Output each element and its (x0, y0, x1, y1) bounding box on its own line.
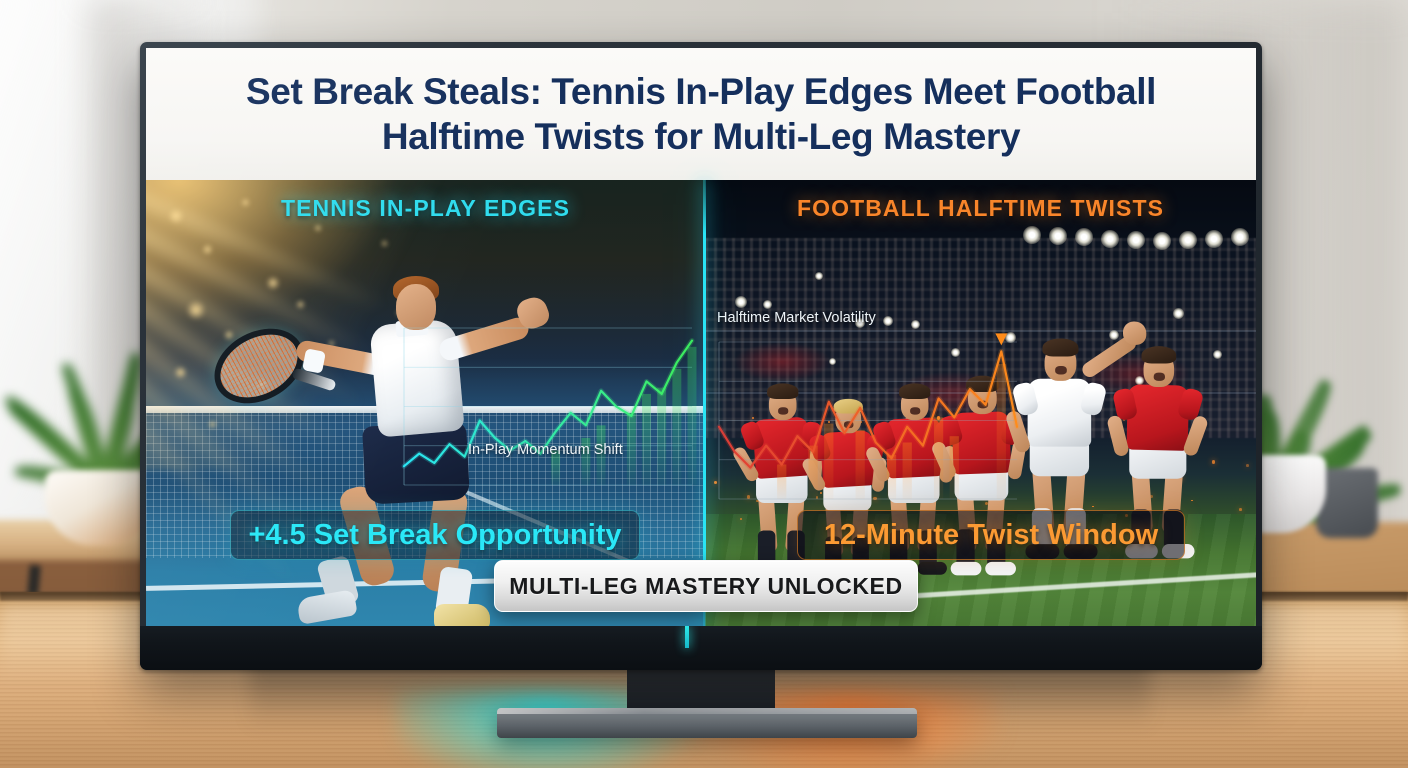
badge-set-break[interactable]: +4.5 Set Break Opportunity (230, 510, 640, 560)
tv-stand-base-highlight (497, 708, 917, 714)
chart-label-football: Halftime Market Volatility (717, 310, 876, 326)
tv-chin (140, 626, 1262, 670)
tv-power-indicator (685, 626, 689, 648)
chart-market-volatility (713, 332, 1023, 507)
chart-label-tennis: In-Play Momentum Shift (468, 442, 623, 458)
headline-band: Set Break Steals: Tennis In-Play Edges M… (146, 48, 1256, 180)
player-shoe-right (434, 604, 490, 626)
player-wristband-left (302, 348, 326, 373)
panel-title-football: FOOTBALL HALFTIME TWISTS (705, 195, 1256, 222)
television[interactable]: Set Break Steals: Tennis In-Play Edges M… (140, 42, 1262, 670)
badge-twist-window[interactable]: 12-Minute Twist Window (797, 510, 1185, 560)
cta-button[interactable]: MULTI-LEG MASTERY UNLOCKED (494, 560, 918, 612)
chart-momentum-shift (398, 318, 698, 493)
page-title: Set Break Steals: Tennis In-Play Edges M… (181, 69, 1221, 160)
tv-screen[interactable]: Set Break Steals: Tennis In-Play Edges M… (146, 48, 1256, 626)
panel-title-tennis: TENNIS IN-PLAY EDGES (146, 195, 705, 222)
